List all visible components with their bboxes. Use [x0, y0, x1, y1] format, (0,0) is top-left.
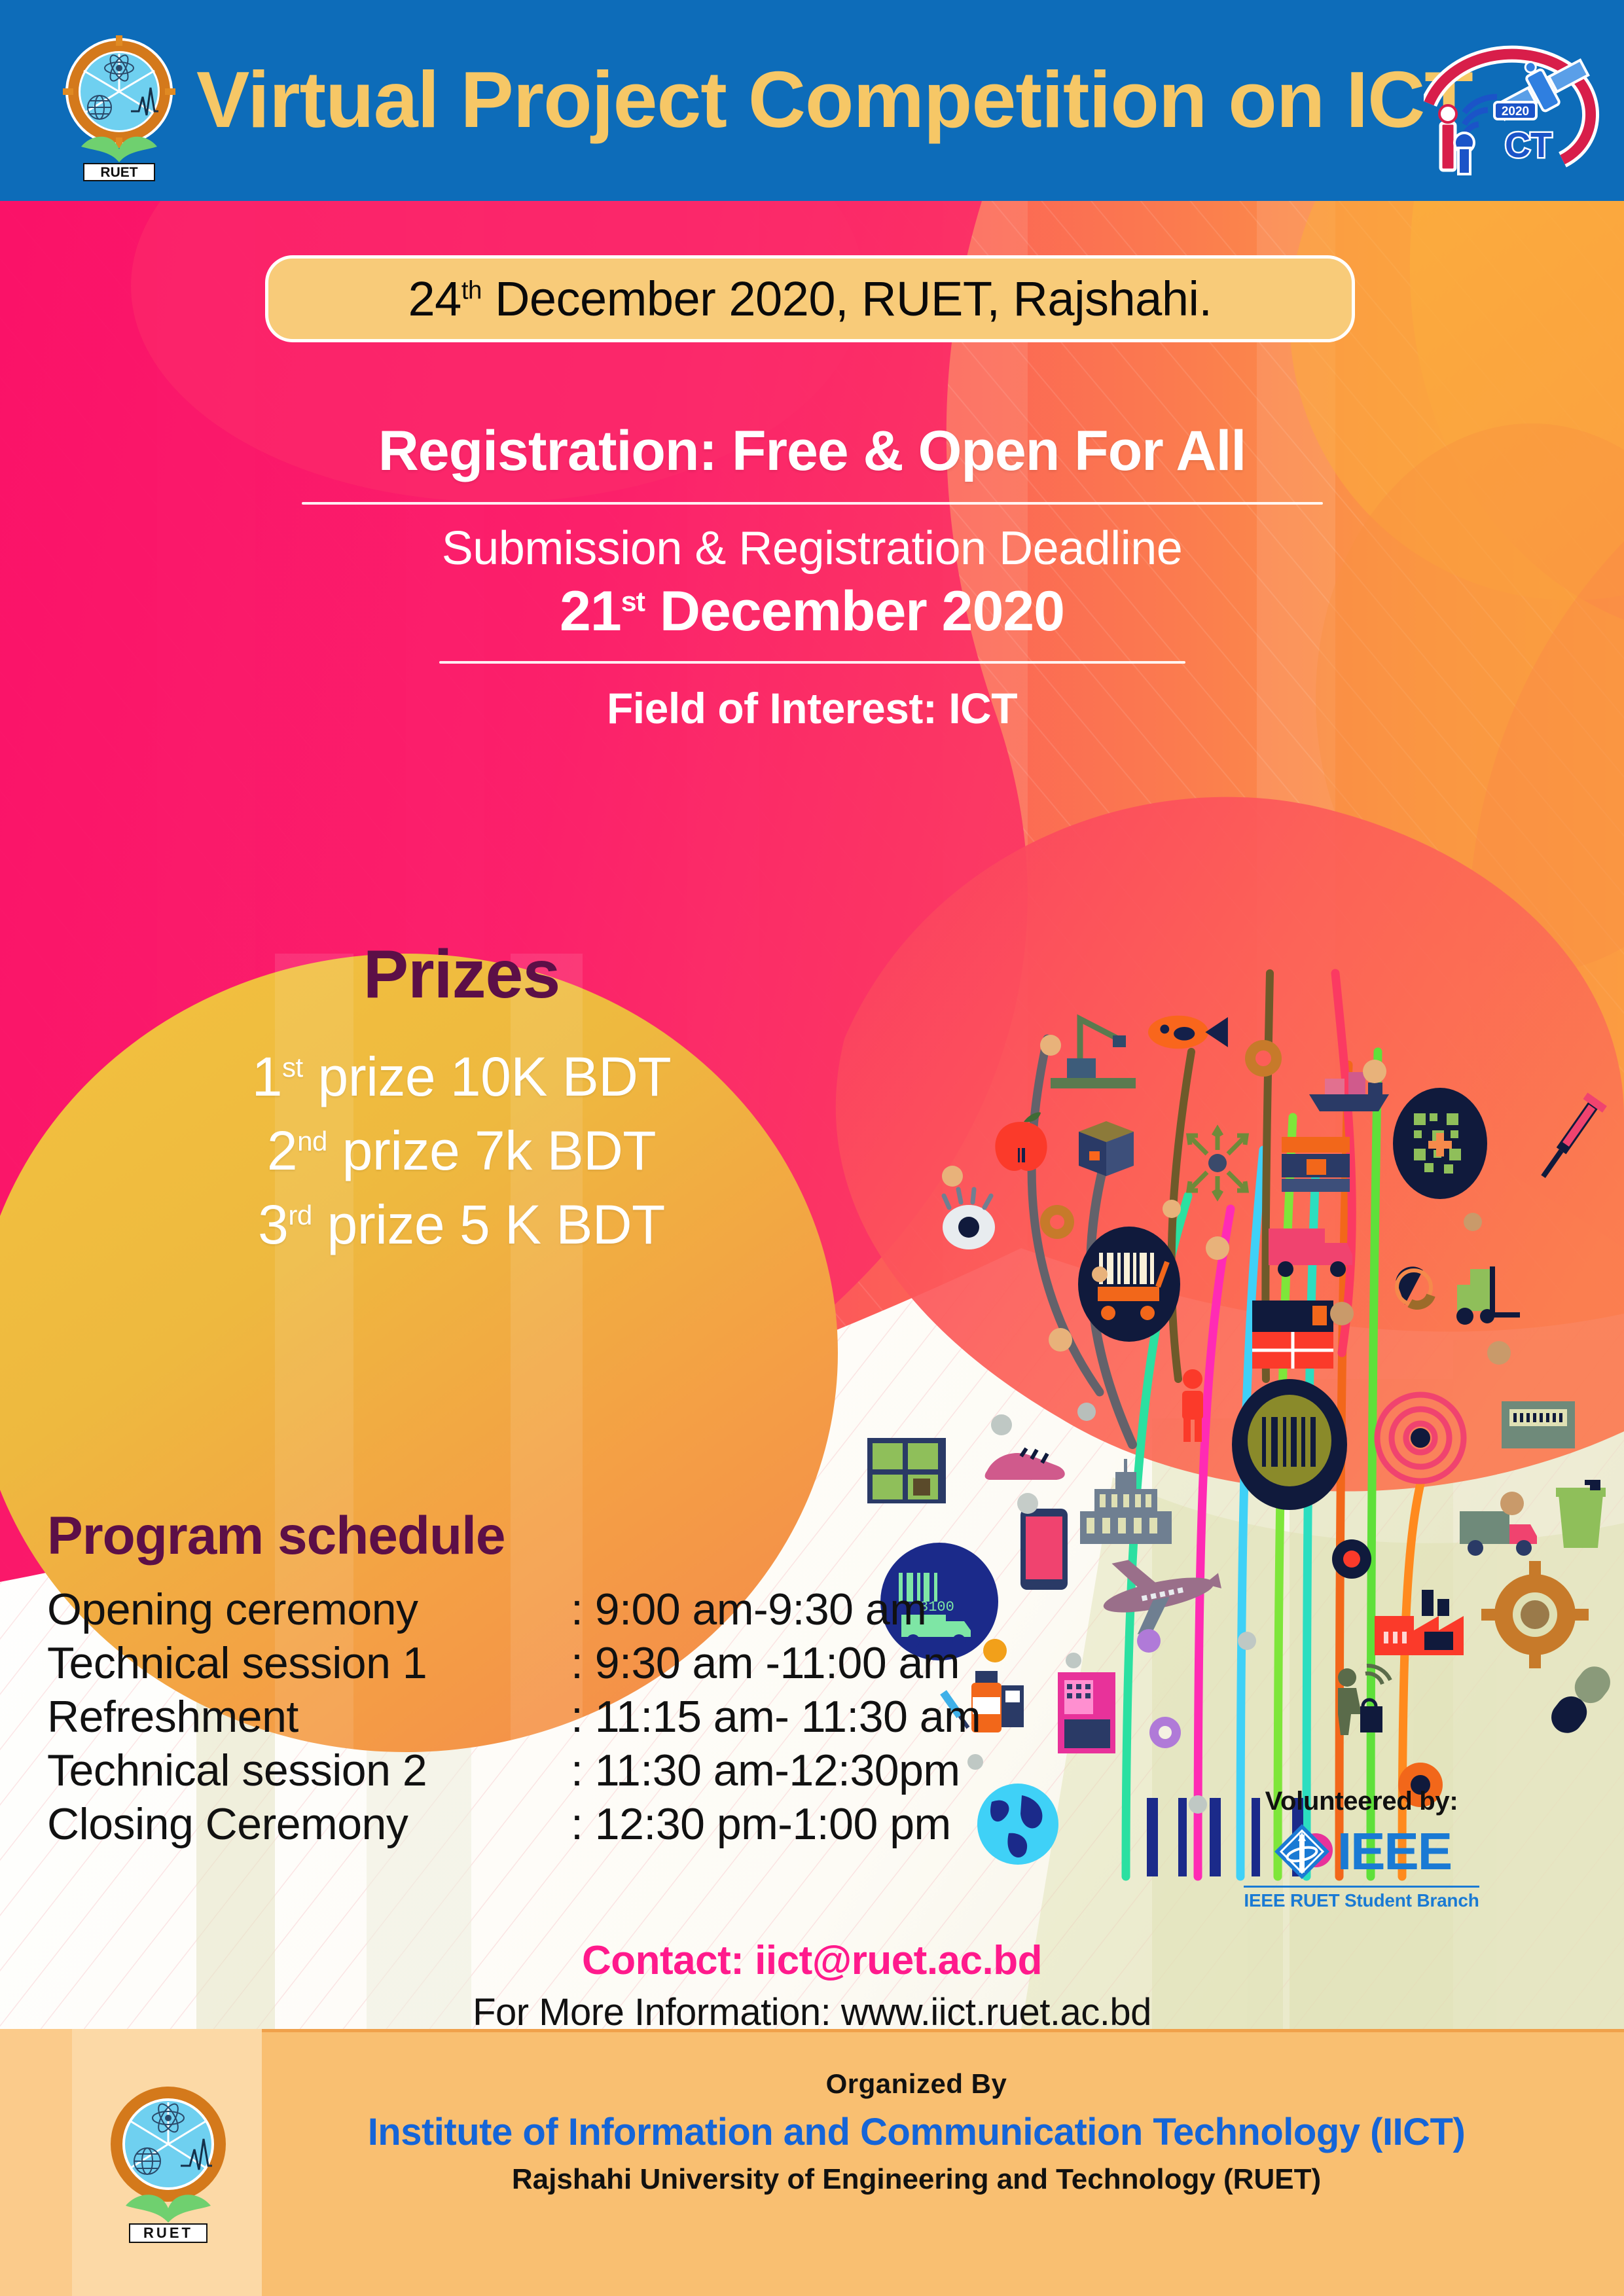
contact-block: Contact: iict@ruet.ac.bd For More Inform…	[0, 1937, 1624, 2034]
schedule-row: Opening ceremony : 9:00 am-9:30 am	[47, 1584, 1108, 1635]
page-title: Virtual Project Competition on ICT	[196, 41, 1414, 158]
footer-band-left	[0, 2029, 72, 2296]
registration-block: Registration: Free & Open For All Submis…	[0, 419, 1624, 733]
event-date-text: 24th December 2020, RUET, Rajshahi.	[408, 271, 1212, 327]
ieee-branch-label: IEEE RUET Student Branch	[1231, 1890, 1492, 1911]
footer-text-block: Organized By Institute of Information an…	[262, 2068, 1571, 2196]
deadline-label: Submission & Registration Deadline	[0, 522, 1624, 575]
svg-text:CT: CT	[1505, 126, 1552, 165]
iict-2020-satellite-logo-icon: CT 2020	[1424, 20, 1610, 193]
program-schedule-block: Program schedule Opening ceremony : 9:00…	[47, 1505, 1108, 1852]
schedule-item-name: Refreshment	[47, 1691, 571, 1742]
schedule-row: Technical session 2 : 11:30 am-12:30pm	[47, 1745, 1108, 1796]
schedule-item-name: Opening ceremony	[47, 1584, 571, 1635]
contact-website[interactable]: For More Information: www.iict.ruet.ac.b…	[0, 1990, 1624, 2034]
header-bar: RUET Virtual Project Competition on ICT	[0, 0, 1624, 201]
prize-item-3: 3rd prize 5 K BDT	[92, 1193, 831, 1257]
divider-rule-bottom	[439, 661, 1185, 664]
schedule-item-name: Technical session 2	[47, 1745, 571, 1796]
svg-text:2020: 2020	[1502, 105, 1529, 118]
ieee-logo-row: IEEE	[1231, 1821, 1492, 1882]
schedule-item-name: Closing Ceremony	[47, 1799, 571, 1850]
schedule-item-time: : 11:30 am-12:30pm	[571, 1745, 960, 1796]
svg-text:RUET: RUET	[143, 2225, 193, 2241]
field-of-interest: Field of Interest: ICT	[0, 683, 1624, 733]
schedule-row: Technical session 1 : 9:30 am -11:00 am	[47, 1638, 1108, 1689]
ieee-wordmark: IEEE	[1337, 1825, 1451, 1878]
ieee-underline	[1244, 1886, 1479, 1888]
organized-by-label: Organized By	[262, 2068, 1571, 2100]
deadline-date: 21st December 2020	[0, 579, 1624, 644]
schedule-item-time: : 9:00 am-9:30 am	[571, 1584, 926, 1635]
schedule-item-time: : 11:15 am- 11:30 am	[571, 1691, 981, 1742]
schedule-item-time: : 9:30 am -11:00 am	[571, 1638, 960, 1689]
organizer-university: Rajshahi University of Engineering and T…	[262, 2163, 1571, 2196]
ruet-crest-logo-icon: RUET	[47, 34, 191, 186]
schedule-title: Program schedule	[47, 1505, 1108, 1567]
poster-root: 3100	[0, 0, 1624, 2296]
schedule-item-time: : 12:30 pm-1:00 pm	[571, 1799, 951, 1850]
event-date-banner: 24th December 2020, RUET, Rajshahi.	[265, 255, 1355, 342]
ieee-diamond-icon	[1272, 1821, 1332, 1882]
schedule-item-name: Technical session 1	[47, 1638, 571, 1689]
volunteer-block: Volunteered by: IEEE IEEE RUET Student B…	[1231, 1787, 1492, 1911]
registration-headline: Registration: Free & Open For All	[0, 419, 1624, 484]
prizes-block: Prizes 1st prize 10K BDT 2nd prize 7k BD…	[92, 936, 831, 1267]
ruet-crest-logo-icon: RUET	[92, 2080, 245, 2249]
organizer-institute: Institute of Information and Communicati…	[262, 2110, 1571, 2154]
schedule-row: Refreshment : 11:15 am- 11:30 am	[47, 1691, 1108, 1742]
divider-rule-top	[302, 502, 1323, 505]
svg-text:RUET: RUET	[100, 165, 137, 180]
contact-email[interactable]: Contact: iict@ruet.ac.bd	[0, 1937, 1624, 1984]
footer-bar: RUET Organized By Institute of Informati…	[0, 2029, 1624, 2296]
schedule-row: Closing Ceremony : 12:30 pm-1:00 pm	[47, 1799, 1108, 1850]
volunteered-by-label: Volunteered by:	[1231, 1787, 1492, 1816]
prizes-title: Prizes	[92, 936, 831, 1014]
prize-item-1: 1st prize 10K BDT	[92, 1045, 831, 1109]
prize-item-2: 2nd prize 7k BDT	[92, 1119, 831, 1183]
